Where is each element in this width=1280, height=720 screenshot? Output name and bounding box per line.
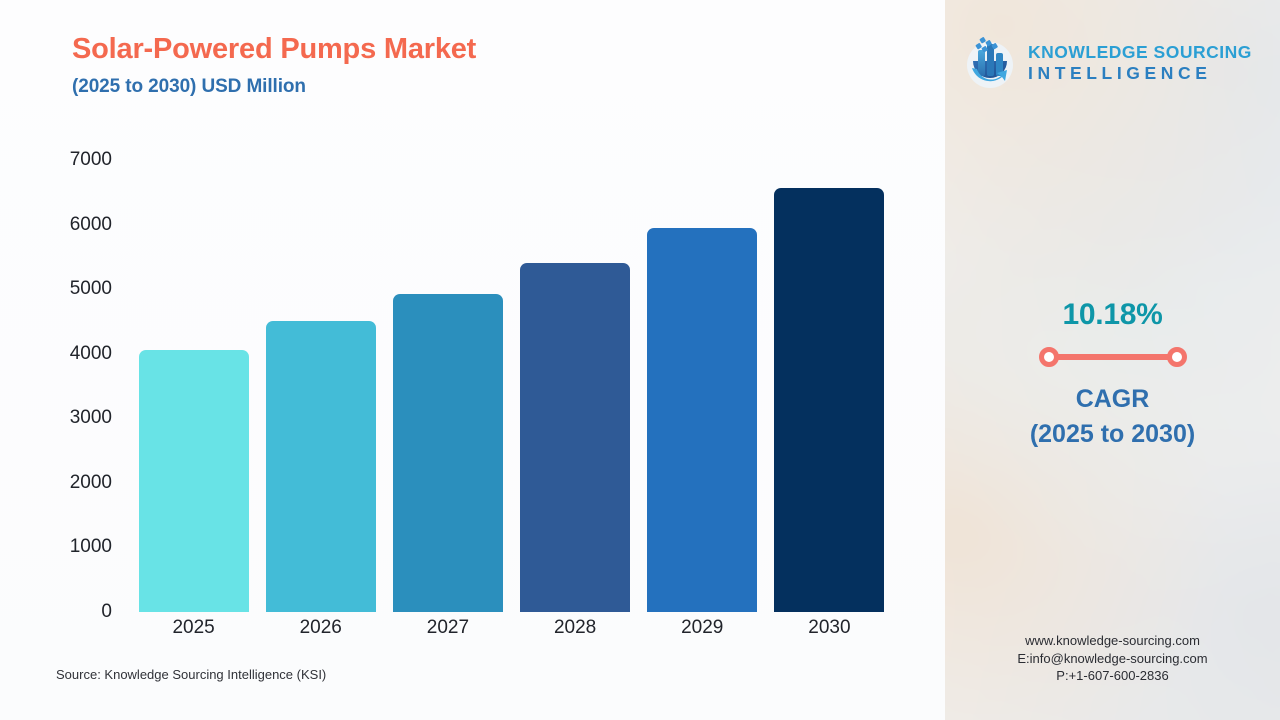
contact-phone: P:+1-607-600-2836: [945, 667, 1280, 685]
source-note: Source: Knowledge Sourcing Intelligence …: [56, 667, 326, 682]
page-title: Solar-Powered Pumps Market: [72, 33, 476, 66]
cagr-period: (2025 to 2030): [945, 419, 1280, 449]
x-axis-tick-label: 2029: [647, 617, 757, 639]
y-axis-tick-label: 4000: [70, 343, 112, 365]
cagr-connector-icon: [1038, 347, 1188, 367]
bar-group: 2028: [520, 160, 630, 612]
bar-group: 2025: [139, 160, 249, 612]
y-axis-tick-label: 1000: [70, 536, 112, 558]
contact-email[interactable]: E:info@knowledge-sourcing.com: [945, 650, 1280, 668]
bar-chart-plot-area: 70006000500040003000200010000 2025202620…: [130, 160, 893, 612]
bar-group: 2029: [647, 160, 757, 612]
brand-name-line2: INTELLIGENCE: [1028, 65, 1252, 83]
bar-2029: [647, 228, 757, 612]
brand-name-line1: KNOWLEDGE SOURCING: [1028, 44, 1252, 62]
bar-group: 2026: [266, 160, 376, 612]
y-axis-tick-label: 7000: [70, 149, 112, 171]
cagr-label: CAGR: [945, 379, 1280, 419]
y-axis-tick-label: 0: [101, 601, 112, 623]
contact-website[interactable]: www.knowledge-sourcing.com: [945, 632, 1280, 650]
page-subtitle: (2025 to 2030) USD Million: [72, 76, 306, 98]
bar-2027: [393, 294, 503, 612]
knowledge-sourcing-logo-icon: [961, 34, 1019, 92]
bar-group: 2030: [774, 160, 884, 612]
x-axis-tick-label: 2030: [774, 617, 884, 639]
cagr-callout: 10.18% CAGR (2025 to 2030): [945, 298, 1280, 449]
x-axis-tick-label: 2026: [266, 617, 376, 639]
contact-info: www.knowledge-sourcing.com E:info@knowle…: [945, 632, 1280, 685]
bar-2026: [266, 321, 376, 612]
brand-side-panel: KNOWLEDGE SOURCING INTELLIGENCE 10.18% C…: [945, 0, 1280, 720]
y-axis-tick-label: 2000: [70, 472, 112, 494]
bar-2028: [520, 263, 630, 612]
x-axis-tick-label: 2025: [139, 617, 249, 639]
chart-infographic: Solar-Powered Pumps Market (2025 to 2030…: [0, 0, 1280, 720]
brand-logo: KNOWLEDGE SOURCING INTELLIGENCE: [961, 32, 1264, 94]
cagr-value: 10.18%: [945, 298, 1280, 332]
y-axis-tick-label: 6000: [70, 214, 112, 236]
x-axis-tick-label: 2028: [520, 617, 630, 639]
y-axis-tick-label: 5000: [70, 278, 112, 300]
x-axis-tick-label: 2027: [393, 617, 503, 639]
chart-panel: Solar-Powered Pumps Market (2025 to 2030…: [0, 0, 945, 720]
bar-group: 2027: [393, 160, 503, 612]
bar-2025: [139, 350, 249, 612]
bar-2030: [774, 188, 884, 612]
y-axis-tick-label: 3000: [70, 407, 112, 429]
